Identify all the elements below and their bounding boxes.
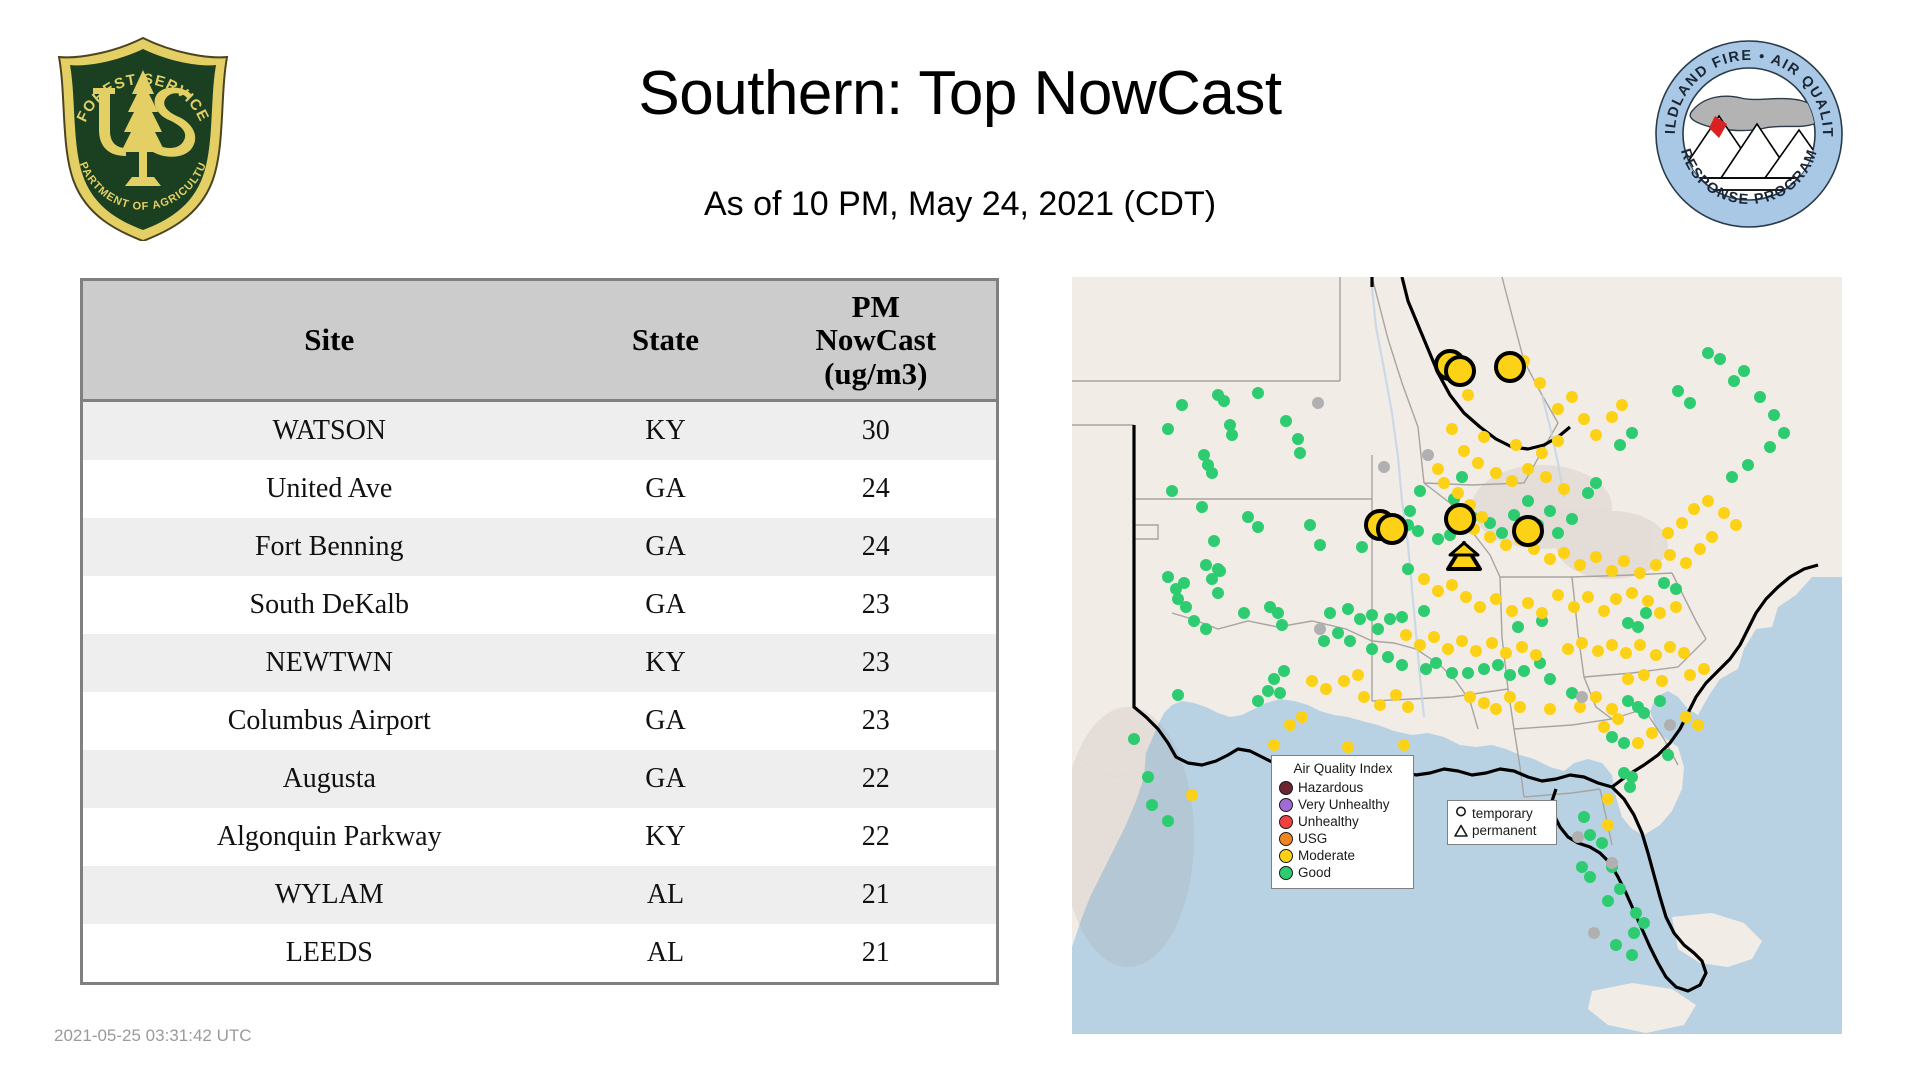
cell-value: 23	[756, 634, 998, 692]
table-row[interactable]: WYLAM AL 21	[82, 866, 998, 924]
cell-value: 21	[756, 866, 998, 924]
aqi-legend: Air Quality Index Hazardous Very Unhealt…	[1271, 755, 1414, 889]
cell-value: 23	[756, 692, 998, 750]
cell-value: 21	[756, 924, 998, 984]
cell-site: Augusta	[82, 750, 576, 808]
footer-timestamp: 2021-05-25 03:31:42 UTC	[54, 1026, 252, 1046]
aqi-label-hazardous: Hazardous	[1298, 781, 1363, 795]
table-row[interactable]: NEWTWN KY 23	[82, 634, 998, 692]
cell-state: GA	[576, 576, 756, 634]
column-header-state[interactable]: State	[576, 280, 756, 401]
circle-marker-icon	[1453, 806, 1469, 822]
column-header-pm-line2: NowCast	[760, 323, 993, 356]
aqi-swatch-hazardous	[1279, 781, 1293, 795]
aqi-legend-item-hazardous[interactable]: Hazardous	[1279, 779, 1407, 796]
aqi-swatch-good	[1279, 866, 1293, 880]
aqi-legend-item-moderate[interactable]: Moderate	[1279, 847, 1407, 864]
cell-value: 24	[756, 518, 998, 576]
marker-legend-item-temporary[interactable]: temporary	[1453, 805, 1551, 822]
cell-site: South DeKalb	[82, 576, 576, 634]
cell-site: WYLAM	[82, 866, 576, 924]
table-header-row: Site State PM NowCast (ug/m3)	[82, 280, 998, 401]
cell-site: NEWTWN	[82, 634, 576, 692]
table-row[interactable]: Columbus Airport GA 23	[82, 692, 998, 750]
aqi-label-moderate: Moderate	[1298, 849, 1355, 863]
aqi-swatch-very-unhealthy	[1279, 798, 1293, 812]
nowcast-table: Site State PM NowCast (ug/m3) WATSON KY …	[80, 278, 999, 985]
forest-service-logo: FOREST SERVICE DEPARTMENT OF AGRICULTURE	[53, 36, 233, 241]
aqi-swatch-usg	[1279, 832, 1293, 846]
table-row[interactable]: WATSON KY 30	[82, 401, 998, 461]
cell-state: GA	[576, 460, 756, 518]
aqi-legend-title: Air Quality Index	[1279, 761, 1407, 776]
column-header-pm-line1: PM	[760, 290, 993, 323]
highlight-marker-temporary	[1378, 515, 1406, 543]
table-row[interactable]: Fort Benning GA 24	[82, 518, 998, 576]
page-title: Southern: Top NowCast	[300, 58, 1620, 129]
cell-site: WATSON	[82, 401, 576, 461]
column-header-pm-line3: (ug/m3)	[760, 357, 993, 390]
aqi-label-very-unhealthy: Very Unhealthy	[1298, 798, 1390, 812]
cell-site: Fort Benning	[82, 518, 576, 576]
cell-value: 23	[756, 576, 998, 634]
marker-legend-item-permanent[interactable]: permanent	[1453, 822, 1551, 839]
aqi-legend-item-very-unhealthy[interactable]: Very Unhealthy	[1279, 796, 1407, 813]
table-row[interactable]: South DeKalb GA 23	[82, 576, 998, 634]
aqi-legend-item-unhealthy[interactable]: Unhealthy	[1279, 813, 1407, 830]
cell-value: 22	[756, 808, 998, 866]
nowcast-table-container: Site State PM NowCast (ug/m3) WATSON KY …	[80, 278, 996, 985]
table-row[interactable]: United Ave GA 24	[82, 460, 998, 518]
column-header-site[interactable]: Site	[82, 280, 576, 401]
marker-legend-label-permanent: permanent	[1472, 824, 1537, 838]
column-header-pm-nowcast[interactable]: PM NowCast (ug/m3)	[756, 280, 998, 401]
cell-state: KY	[576, 401, 756, 461]
air-quality-map[interactable]	[1072, 277, 1842, 1034]
cell-site: LEEDS	[82, 924, 576, 984]
triangle-marker-icon	[1453, 823, 1469, 839]
cell-state: KY	[576, 808, 756, 866]
cell-site: Columbus Airport	[82, 692, 576, 750]
cell-site: United Ave	[82, 460, 576, 518]
cell-site: Algonquin Parkway	[82, 808, 576, 866]
aqi-label-good: Good	[1298, 866, 1331, 880]
highlight-marker-temporary	[1446, 357, 1474, 385]
aqi-swatch-unhealthy	[1279, 815, 1293, 829]
aqi-label-usg: USG	[1298, 832, 1327, 846]
marker-legend-label-temporary: temporary	[1472, 807, 1533, 821]
marker-shape-legend: temporary permanent	[1447, 800, 1557, 845]
table-row[interactable]: Augusta GA 22	[82, 750, 998, 808]
column-header-state-label: State	[632, 322, 699, 357]
aqi-legend-item-usg[interactable]: USG	[1279, 830, 1407, 847]
cell-state: AL	[576, 866, 756, 924]
cell-value: 30	[756, 401, 998, 461]
cell-state: GA	[576, 692, 756, 750]
cell-state: KY	[576, 634, 756, 692]
aqi-label-unhealthy: Unhealthy	[1298, 815, 1359, 829]
highlight-marker-temporary	[1496, 353, 1524, 381]
cell-state: GA	[576, 750, 756, 808]
cell-value: 22	[756, 750, 998, 808]
table-row[interactable]: LEEDS AL 21	[82, 924, 998, 984]
wfaqrp-logo: WILDLAND FIRE • AIR QUALITY RESPONSE PRO…	[1653, 38, 1845, 230]
column-header-site-label: Site	[304, 322, 354, 357]
cell-state: GA	[576, 518, 756, 576]
highlight-marker-temporary	[1514, 517, 1542, 545]
aqi-swatch-moderate	[1279, 849, 1293, 863]
cell-state: AL	[576, 924, 756, 984]
page-subtitle: As of 10 PM, May 24, 2021 (CDT)	[300, 185, 1620, 224]
table-row[interactable]: Algonquin Parkway KY 22	[82, 808, 998, 866]
cell-value: 24	[756, 460, 998, 518]
aqi-legend-item-good[interactable]: Good	[1279, 864, 1407, 881]
highlight-marker-temporary	[1446, 505, 1474, 533]
